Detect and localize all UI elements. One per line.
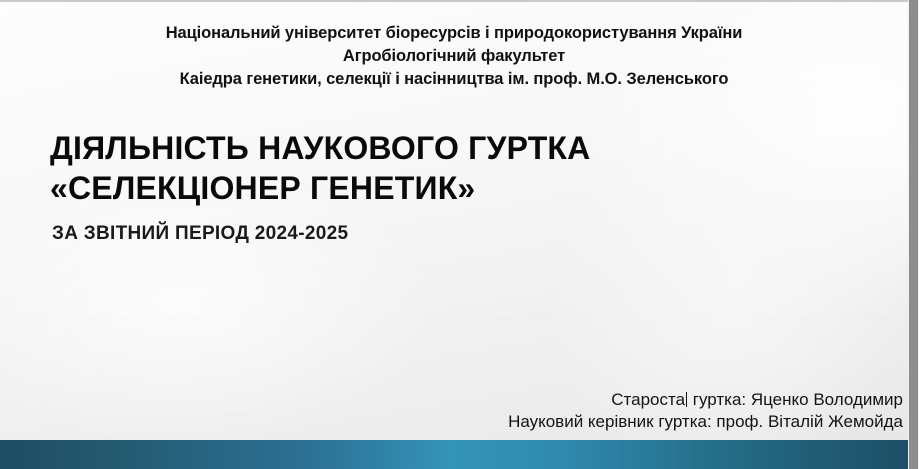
vertical-scrollbar-thumb[interactable] [909,0,918,469]
credit-line-group-leader: Староста гуртка: Яценко Володимир [508,389,903,411]
header-line-university: Національний університет біоресурсів і п… [0,22,908,45]
text-caret-icon [686,392,687,407]
credit-line-supervisor: Науковий керівник гуртка: проф. Віталій … [508,411,903,433]
presentation-slide: Національний університет біоресурсів і п… [0,0,919,469]
vertical-scrollbar[interactable] [908,0,919,469]
slide-credits[interactable]: Староста гуртка: Яценко Володимир Науков… [508,389,903,433]
credit-leader-suffix: гуртка: Яценко Володимир [688,390,903,409]
slide-title[interactable]: ДІЯЛЬНІСТЬ НАУКОВОГО ГУРТКА «СЕЛЕКЦІОНЕР… [50,128,770,208]
top-rule-divider [0,0,919,2]
title-line-primary: ДІЯЛЬНІСТЬ НАУКОВОГО ГУРТКА [50,128,770,168]
credit-leader-prefix: Староста [611,390,685,409]
slide-subtitle-period[interactable]: ЗА ЗВІТНИЙ ПЕРІОД 2024-2025 [52,222,348,246]
slide-header: Національний університет біоресурсів і п… [0,22,908,91]
title-line-secondary: «СЕЛЕКЦІОНЕР ГЕНЕТИК» [50,168,770,208]
bottom-accent-bar [0,440,908,469]
header-line-department: Каіедра генетики, селекції і насінництва… [0,68,908,91]
header-line-faculty: Агробіологічний факультет [0,45,908,68]
